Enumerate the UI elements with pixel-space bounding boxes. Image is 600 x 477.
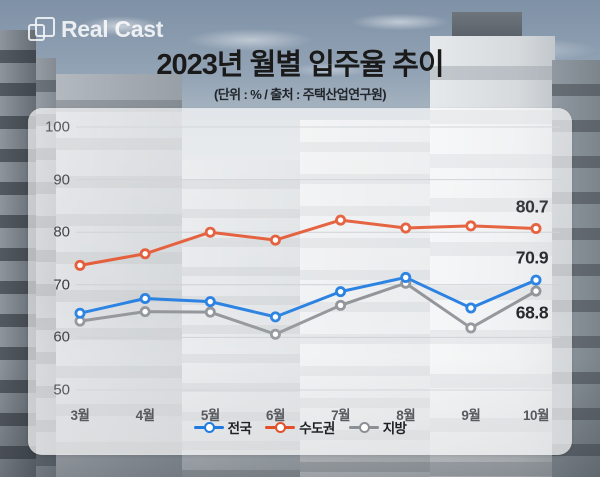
data-point-marker xyxy=(532,224,540,232)
y-axis-tick-label: 80 xyxy=(28,224,70,241)
line-chart-svg xyxy=(28,108,572,455)
page-subtitle: (단위 : % / 출처 : 주택산업연구원) xyxy=(0,84,600,103)
legend-marker-icon xyxy=(194,420,224,434)
data-point-marker xyxy=(141,308,149,316)
legend-item-수도권[interactable]: 수도권 xyxy=(265,417,334,437)
data-point-marker xyxy=(206,298,214,306)
y-axis-tick-label: 60 xyxy=(28,329,70,346)
data-point-marker xyxy=(532,287,540,295)
page-title: 2023년 월별 입주율 추이 xyxy=(0,41,600,83)
data-point-marker xyxy=(76,261,84,269)
legend-label: 수도권 xyxy=(299,417,334,437)
series-end-value-label: 68.8 xyxy=(516,303,548,324)
data-point-marker xyxy=(271,313,279,321)
data-point-marker xyxy=(336,301,344,309)
data-point-marker xyxy=(76,309,84,317)
infographic-root: Real Cast 2023년 월별 입주율 추이 (단위 : % / 출처 :… xyxy=(0,0,600,477)
y-axis-tick-label: 90 xyxy=(28,171,70,188)
legend-label: 전국 xyxy=(228,417,252,437)
data-point-marker xyxy=(141,250,149,258)
data-point-marker xyxy=(402,224,410,232)
overlapping-squares-icon xyxy=(28,17,54,43)
legend-label: 지방 xyxy=(383,417,407,437)
data-point-marker xyxy=(467,304,475,312)
chart-plot-area: 50607080901003월4월5월6월7월8월9월10월70.980.768… xyxy=(28,108,572,455)
series-end-value-label: 80.7 xyxy=(516,196,548,217)
legend-item-전국[interactable]: 전국 xyxy=(194,417,252,437)
y-axis-tick-label: 70 xyxy=(28,276,70,293)
chart-legend: 전국수도권지방 xyxy=(28,417,572,437)
data-point-marker xyxy=(141,294,149,302)
legend-marker-icon xyxy=(349,420,379,434)
data-point-marker xyxy=(271,330,279,338)
y-axis-tick-label: 50 xyxy=(28,382,70,399)
data-point-marker xyxy=(206,308,214,316)
data-point-marker xyxy=(336,288,344,296)
data-point-marker xyxy=(532,276,540,284)
data-point-marker xyxy=(402,273,410,281)
legend-item-지방[interactable]: 지방 xyxy=(349,417,407,437)
brand-name: Real Cast xyxy=(61,16,163,43)
data-point-marker xyxy=(467,324,475,332)
data-point-marker xyxy=(271,236,279,244)
brand-logo: Real Cast xyxy=(28,16,163,43)
chart-panel: 50607080901003월4월5월6월7월8월9월10월70.980.768… xyxy=(28,108,572,455)
data-point-marker xyxy=(467,222,475,230)
data-point-marker xyxy=(336,216,344,224)
data-point-marker xyxy=(206,228,214,236)
series-end-value-label: 70.9 xyxy=(516,248,548,269)
legend-marker-icon xyxy=(265,420,295,434)
y-axis-tick-label: 100 xyxy=(28,119,70,136)
